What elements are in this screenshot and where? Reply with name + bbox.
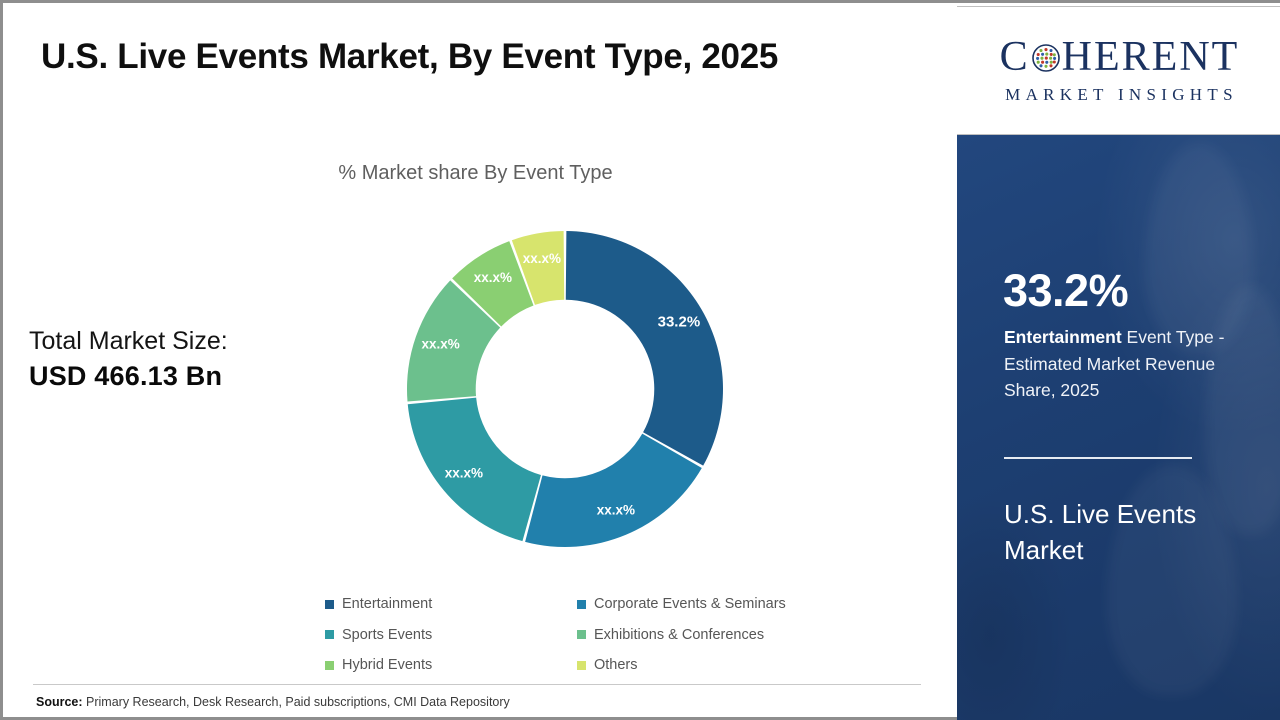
legend-label: Hybrid Events	[342, 657, 432, 673]
source-line: Source: Primary Research, Desk Research,…	[36, 695, 510, 709]
legend-item[interactable]: Others	[577, 650, 825, 681]
legend-item[interactable]: Entertainment	[325, 589, 577, 620]
infographic-canvas: U.S. Live Events Market, By Event Type, …	[0, 0, 1280, 720]
chart-legend: EntertainmentCorporate Events & Seminars…	[325, 589, 825, 681]
legend-label: Others	[594, 657, 638, 673]
source-text: Primary Research, Desk Research, Paid su…	[83, 695, 510, 709]
page-title: U.S. Live Events Market, By Event Type, …	[41, 37, 778, 77]
legend-item[interactable]: Hybrid Events	[325, 650, 577, 681]
donut-chart: 33.2%xx.x%xx.x%xx.x%xx.x%xx.x%	[405, 229, 725, 549]
main-panel: U.S. Live Events Market, By Event Type, …	[3, 3, 948, 717]
stat-value: 33.2%	[1003, 268, 1128, 313]
legend-swatch-icon	[325, 630, 334, 639]
legend-item[interactable]: Corporate Events & Seminars	[577, 589, 825, 620]
donut-slice-label: xx.x%	[445, 465, 483, 480]
legend-swatch-icon	[325, 600, 334, 609]
total-market-size-label: Total Market Size:	[29, 325, 319, 358]
donut-slice	[525, 434, 702, 547]
donut-slice-label: xx.x%	[421, 337, 459, 352]
stat-description-highlight: Entertainment	[1004, 327, 1122, 347]
chart-subtitle: % Market share By Event Type	[3, 162, 948, 185]
legend-label: Sports Events	[342, 627, 432, 643]
donut-slice-group	[407, 231, 723, 547]
panel-market-name: U.S. Live Events Market	[1004, 497, 1254, 569]
logo-letters-herent: HERENT	[1062, 36, 1240, 78]
logo-wordmark: C HERENT	[1000, 36, 1240, 78]
legend-swatch-icon	[577, 630, 586, 639]
brand-logo: C HERENT MARKET INSIGHTS	[957, 6, 1280, 135]
legend-swatch-icon	[325, 661, 334, 670]
stat-divider	[1004, 457, 1192, 459]
donut-slice-label: xx.x%	[597, 502, 635, 517]
total-market-size-block: Total Market Size: USD 466.13 Bn	[29, 325, 319, 394]
donut-slice-label: xx.x%	[523, 251, 561, 266]
legend-item[interactable]: Exhibitions & Conferences	[577, 620, 825, 651]
legend-label: Corporate Events & Seminars	[594, 596, 786, 612]
legend-label: Exhibitions & Conferences	[594, 627, 764, 643]
globe-dots-icon	[1031, 43, 1061, 73]
legend-item[interactable]: Sports Events	[325, 620, 577, 651]
legend-label: Entertainment	[342, 596, 432, 612]
source-label: Source:	[36, 695, 83, 709]
stat-panel: 33.2% Entertainment Event Type - Estimat…	[957, 135, 1280, 720]
legend-swatch-icon	[577, 661, 586, 670]
donut-slice	[566, 231, 723, 466]
total-market-size-value: USD 466.13 Bn	[29, 358, 319, 394]
logo-tagline: MARKET INSIGHTS	[1001, 85, 1238, 105]
donut-slice-label: xx.x%	[474, 270, 512, 285]
logo-letter-c: C	[1000, 36, 1030, 78]
source-divider	[33, 684, 921, 685]
legend-swatch-icon	[577, 600, 586, 609]
donut-chart-svg: 33.2%xx.x%xx.x%xx.x%xx.x%xx.x%	[405, 229, 725, 549]
right-panel: C HERENT MARKET INSIGHTS	[953, 3, 1280, 720]
donut-slice-label: 33.2%	[658, 314, 701, 331]
stat-description: Entertainment Event Type - Estimated Mar…	[1004, 324, 1270, 404]
